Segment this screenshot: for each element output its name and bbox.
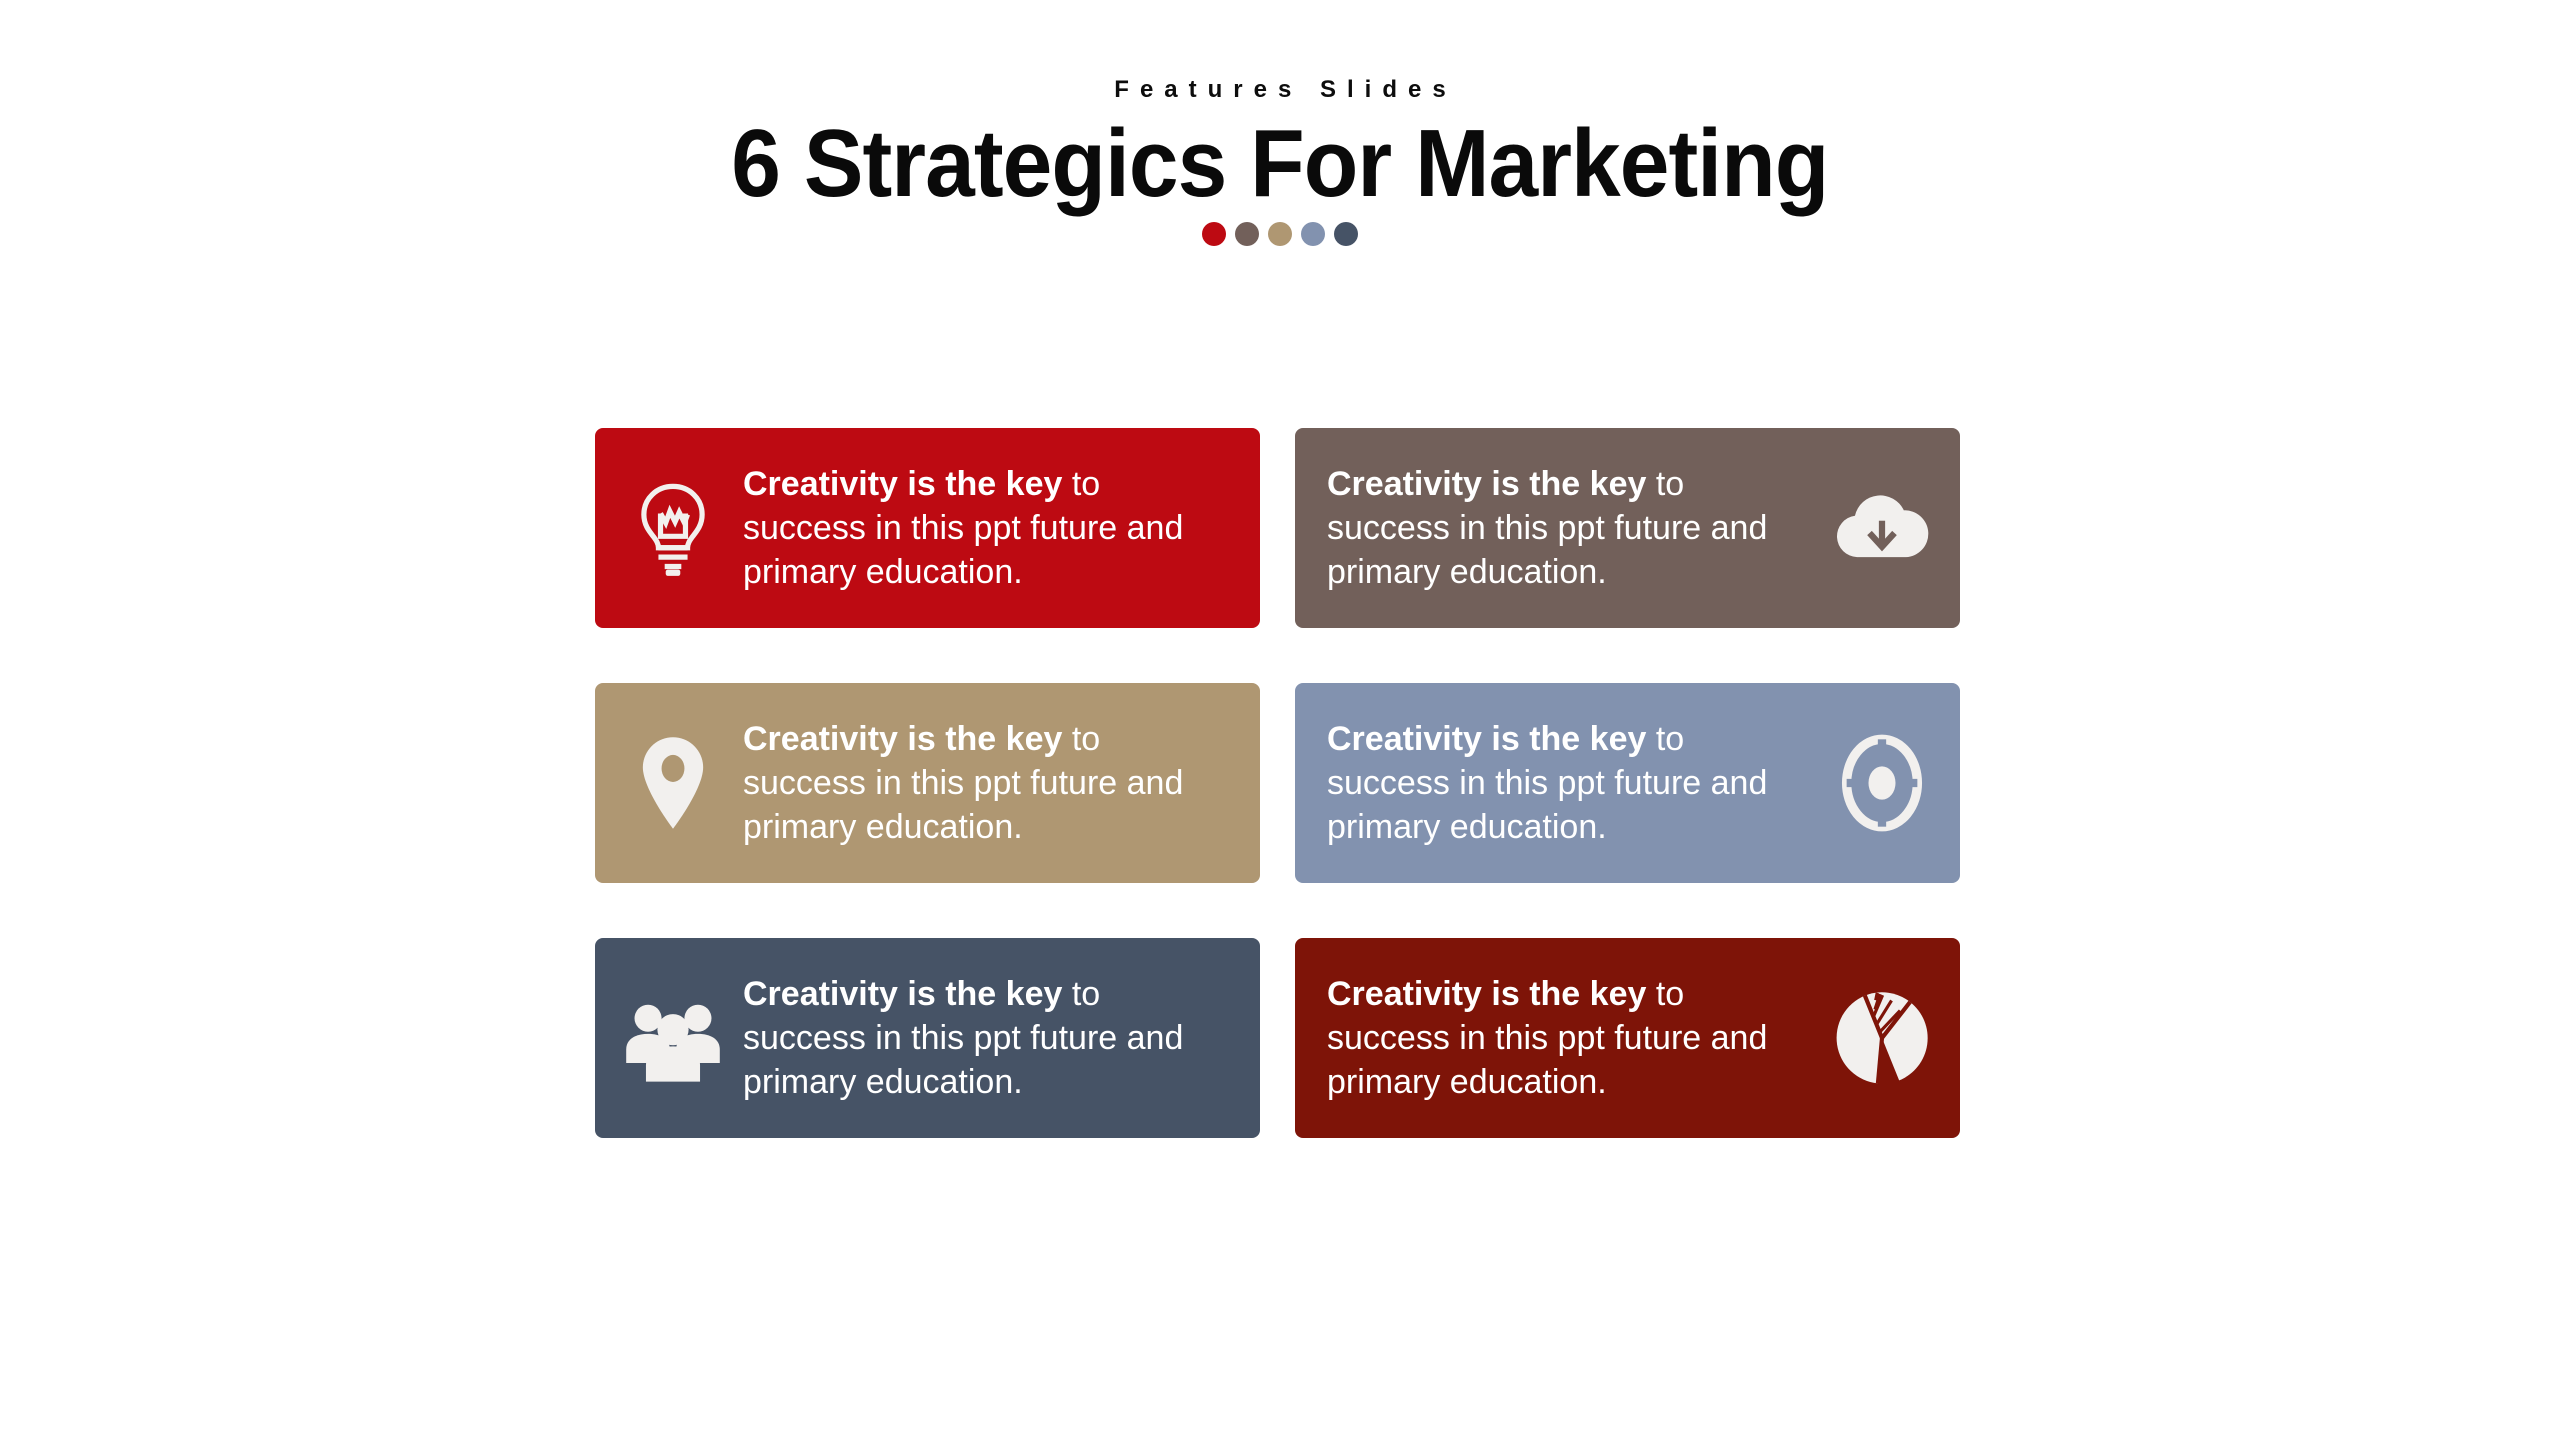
eyebrow-label: Features Slides: [1114, 78, 1456, 102]
pie-chart-icon: [1830, 986, 1934, 1090]
card-tab-notch: [1928, 480, 1994, 576]
card-tab-notch: [561, 735, 627, 831]
card-description: Creativity is the key to success in this…: [743, 972, 1234, 1105]
feature-card[interactable]: Creativity is the key to success in this…: [595, 428, 1260, 628]
feature-card[interactable]: Creativity is the key to success in this…: [1295, 683, 1960, 883]
cloud-download-icon: [1830, 476, 1934, 580]
card-description-bold: Creativity is the key: [743, 720, 1062, 758]
card-description: Creativity is the key to success in this…: [743, 717, 1234, 850]
card-tab-notch: [561, 480, 627, 576]
people-group-icon: [621, 986, 725, 1090]
card-description-bold: Creativity is the key: [743, 975, 1062, 1013]
dot-red: [1202, 222, 1226, 246]
card-inner: Creativity is the key to success in this…: [621, 972, 1234, 1105]
feature-card[interactable]: Creativity is the key to success in this…: [595, 938, 1260, 1138]
card-inner: Creativity is the key to success in this…: [621, 717, 1234, 850]
feature-card-grid: Creativity is the key to success in this…: [595, 428, 2015, 1138]
dot-brown: [1235, 222, 1259, 246]
card-description-bold: Creativity is the key: [1327, 975, 1646, 1013]
card-description-bold: Creativity is the key: [1327, 720, 1646, 758]
card-inner: Creativity is the key to success in this…: [1321, 972, 1934, 1105]
card-description: Creativity is the key to success in this…: [1321, 462, 1812, 595]
feature-card[interactable]: Creativity is the key to success in this…: [595, 683, 1260, 883]
color-dots: [1202, 222, 1358, 246]
feature-card[interactable]: Creativity is the key to success in this…: [1295, 428, 1960, 628]
card-tab-notch: [1928, 735, 1994, 831]
card-inner: Creativity is the key to success in this…: [1321, 717, 1934, 850]
feature-card[interactable]: Creativity is the key to success in this…: [1295, 938, 1960, 1138]
card-description: Creativity is the key to success in this…: [1321, 717, 1812, 850]
lightbulb-icon: [621, 476, 725, 580]
life-ring-icon: [1830, 731, 1934, 835]
page-title: 6 Strategics For Marketing: [731, 112, 1828, 216]
card-tab-notch: [1928, 990, 1994, 1086]
map-pin-icon: [621, 731, 725, 835]
card-description-bold: Creativity is the key: [1327, 465, 1646, 503]
card-inner: Creativity is the key to success in this…: [621, 462, 1234, 595]
dot-slate: [1334, 222, 1358, 246]
card-description: Creativity is the key to success in this…: [1321, 972, 1812, 1105]
dot-tan: [1268, 222, 1292, 246]
card-tab-notch: [561, 990, 627, 1086]
slide-root: Features Slides 6 Strategics For Marketi…: [0, 0, 2560, 1440]
dot-blue-gray: [1301, 222, 1325, 246]
card-description: Creativity is the key to success in this…: [743, 462, 1234, 595]
card-inner: Creativity is the key to success in this…: [1321, 462, 1934, 595]
slide-header: Features Slides 6 Strategics For Marketi…: [0, 78, 2560, 246]
card-description-bold: Creativity is the key: [743, 465, 1062, 503]
